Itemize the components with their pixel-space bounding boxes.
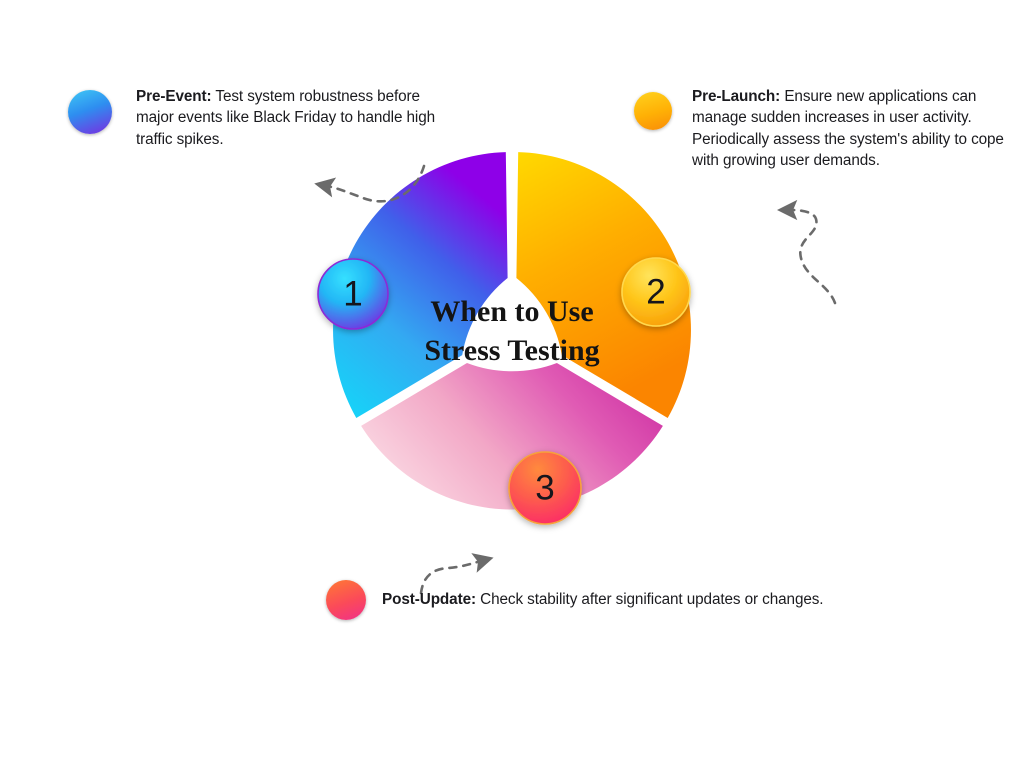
callout-post-update: Post-Update: Check stability after signi… — [326, 580, 926, 620]
circle-bullet-icon-2 — [634, 92, 672, 130]
connector-arrow-2 — [790, 210, 835, 303]
step-marker-1-number: 1 — [343, 275, 362, 314]
step-marker-3-number: 3 — [535, 469, 554, 508]
callout-pre-event-title: Pre-Event: — [136, 88, 212, 105]
callout-pre-launch: Pre-Launch: Ensure new applications can … — [634, 86, 1014, 172]
infographic-canvas: 1 2 3 When to Use Stress Testing Pre-Eve… — [0, 0, 1024, 768]
center-title-line-1: When to Use — [372, 292, 652, 331]
callout-pre-launch-text: Pre-Launch: Ensure new applications can … — [692, 86, 1004, 172]
callout-post-update-description: Check stability after significant update… — [480, 591, 823, 608]
callout-pre-event-text: Pre-Event: Test system robustness before… — [136, 86, 436, 150]
step-marker-3[interactable]: 3 — [509, 452, 581, 524]
circle-bullet-icon-3 — [326, 580, 366, 620]
callout-post-update-title: Post-Update: — [382, 591, 476, 608]
diagram-center-title: When to Use Stress Testing — [372, 292, 652, 370]
callout-pre-event: Pre-Event: Test system robustness before… — [68, 86, 438, 150]
circle-bullet-icon-1 — [68, 90, 112, 134]
callout-post-update-text: Post-Update: Check stability after signi… — [382, 589, 902, 610]
callout-pre-launch-title: Pre-Launch: — [692, 88, 780, 105]
center-title-line-2: Stress Testing — [372, 331, 652, 370]
